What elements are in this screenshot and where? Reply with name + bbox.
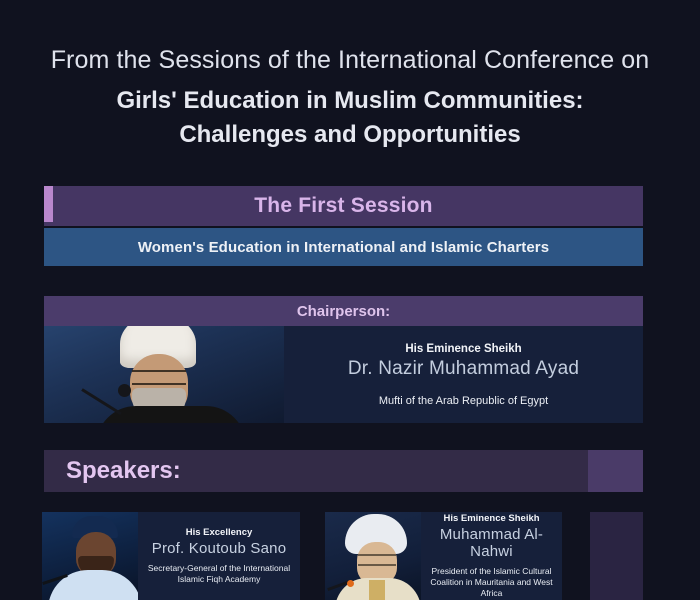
speaker-honorific: His Excellency [186,527,253,538]
speakers-bar-end-panel [588,450,643,492]
speaker-card-partial [590,512,643,600]
speaker-details: His Eminence Sheikh Muhammad Al-Nahwi Pr… [421,512,562,600]
speaker-name: Prof. Koutoub Sano [152,540,287,557]
speaker-portrait-photo [325,512,421,600]
title-line-3: Challenges and Opportunities [0,118,700,152]
chairperson-name: Dr. Nazir Muhammad Ayad [348,358,579,380]
chairperson-honorific: His Eminence Sheikh [405,343,521,355]
speakers-label: Speakers: [66,457,181,485]
speaker-role: President of the Islamic Cultural Coalit… [427,566,556,600]
microphone-head-icon [118,384,131,397]
chairperson-role: Mufti of the Arab Republic of Egypt [379,395,548,407]
session-title: The First Session [254,194,432,218]
microphone-icon [81,388,122,415]
speaker-card: His Excellency Prof. Koutoub Sano Secret… [42,512,300,600]
chairperson-details: His Eminence Sheikh Dr. Nazir Muhammad A… [284,326,643,423]
portrait-glasses-icon [132,370,186,385]
speaker-honorific: His Eminence Sheikh [443,513,539,524]
page-title: From the Sessions of the International C… [0,44,700,152]
speaker-details: His Excellency Prof. Koutoub Sano Secret… [138,512,300,600]
session-header-bar: The First Session [44,186,643,226]
session-subtitle-bar: Women's Education in International and I… [44,228,643,266]
conference-session-slide: From the Sessions of the International C… [0,0,700,600]
speaker-name: Muhammad Al-Nahwi [427,526,556,560]
session-subtitle: Women's Education in International and I… [138,239,549,256]
session-accent-bar [44,186,53,222]
speakers-section-bar: Speakers: [44,450,643,492]
portrait-glasses-icon [358,554,396,566]
speaker-portrait-photo [42,512,138,600]
title-line-1: From the Sessions of the International C… [0,44,700,78]
title-line-2: Girls' Education in Muslim Communities: [0,84,700,118]
speaker-role: Secretary-General of the International I… [144,563,294,585]
speaker-card: His Eminence Sheikh Muhammad Al-Nahwi Pr… [325,512,562,600]
chairperson-label: Chairperson: [297,303,390,320]
microphone-tip-icon [347,580,354,587]
chairperson-block: Chairperson: His Eminence Sheikh Dr. Naz… [44,296,643,423]
chairperson-label-bar: Chairperson: [44,296,643,326]
portrait-sash [369,580,385,600]
